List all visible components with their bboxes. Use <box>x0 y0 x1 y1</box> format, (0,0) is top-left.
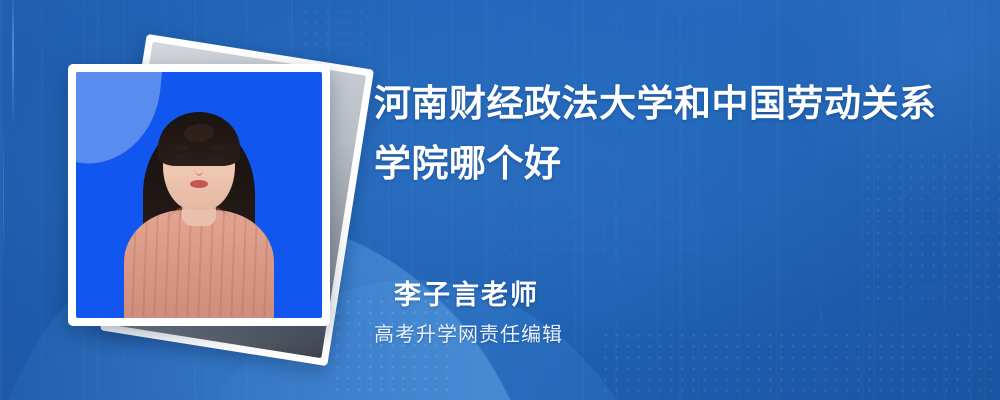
background-accent-line-left <box>12 0 14 125</box>
banner-text-column: 河南财经政法大学和中国劳动关系学院哪个好 李子言老师 高考升学网责任编辑 <box>374 0 974 400</box>
banner-image: 河南财经政法大学和中国劳动关系学院哪个好 李子言老师 高考升学网责任编辑 <box>0 0 1000 400</box>
author-name: 李子言老师 <box>394 273 539 312</box>
photo-card-front <box>68 64 330 326</box>
banner-title: 河南财经政法大学和中国劳动关系学院哪个好 <box>374 74 962 194</box>
portrait-dress <box>124 210 274 318</box>
photo-card-stack <box>46 22 366 382</box>
portrait-eye-right <box>210 154 223 160</box>
background-accent-line-left-secondary <box>3 120 4 270</box>
portrait-figure <box>76 72 322 318</box>
portrait-mouth <box>190 180 208 188</box>
portrait-photo <box>76 72 322 318</box>
portrait-nose <box>195 164 203 176</box>
portrait-eye-left <box>175 154 188 160</box>
author-role: 高考升学网责任编辑 <box>374 318 563 347</box>
